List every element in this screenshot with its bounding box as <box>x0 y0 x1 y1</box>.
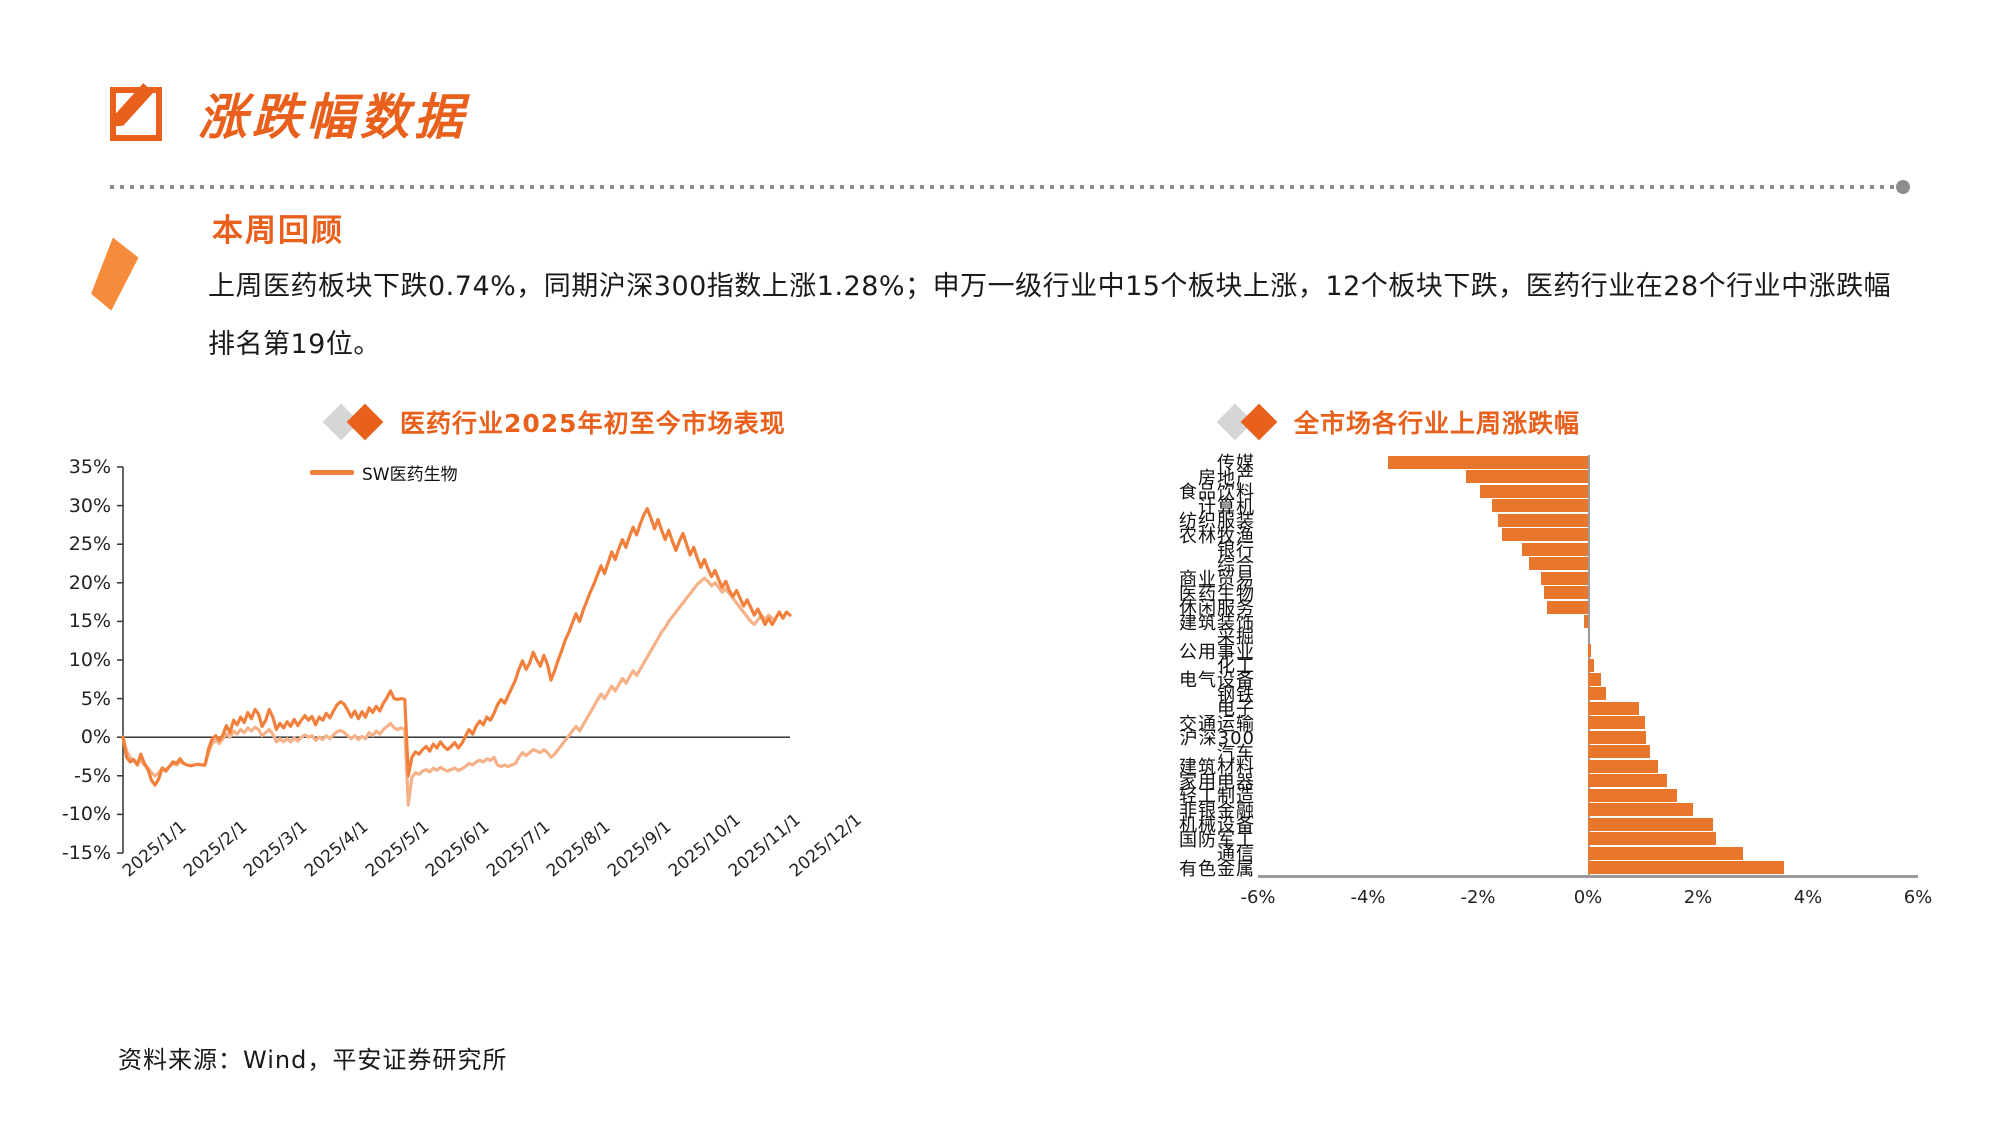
bar-有色金属 <box>1588 861 1784 874</box>
legend-label: SW医药生物 <box>362 460 458 485</box>
bar-chart-axis-line <box>1258 875 1918 878</box>
bar-电子 <box>1588 702 1639 715</box>
bar-轻工制造 <box>1588 789 1677 802</box>
bar-国防军工 <box>1588 832 1716 845</box>
section-heading: 本周回顾 <box>212 205 344 250</box>
bar-休闲服务 <box>1547 601 1588 614</box>
bar-农林牧渔 <box>1502 528 1588 541</box>
bar-通信 <box>1588 847 1743 860</box>
bar-公用事业 <box>1588 644 1591 657</box>
x-tick-label: 2% <box>1684 887 1713 908</box>
bar-商业贸易 <box>1541 572 1588 585</box>
bar-电气设备 <box>1588 673 1601 686</box>
legend-swatch <box>310 470 354 475</box>
line-chart-legend: SW医药生物 <box>310 460 458 485</box>
bar-chart-x-axis: -6%-4%-2%0%2%4%6% <box>1000 887 1660 927</box>
header-divider <box>110 185 1900 189</box>
bar-家用电器 <box>1588 774 1667 787</box>
bar-汽车 <box>1588 745 1650 758</box>
category-label: 有色金属 <box>1179 855 1255 881</box>
bar-房地产 <box>1466 470 1588 483</box>
pencil-bullet-icon <box>90 240 146 314</box>
bar-综合 <box>1529 557 1588 570</box>
left-chart-header: 医药行业2025年初至今市场表现 <box>328 404 786 440</box>
bar-chart: 传媒房地产食品饮料计算机纺织服装农林牧渔银行综合商业贸易医药生物休闲服务建筑装饰… <box>1000 455 1930 995</box>
x-tick-label: 6% <box>1904 887 1933 908</box>
diamond-orange-icon <box>347 404 384 441</box>
source-note: 资料来源：Wind，平安证券研究所 <box>118 1040 507 1075</box>
x-tick-label: 4% <box>1794 887 1823 908</box>
bar-化工 <box>1588 659 1594 672</box>
line-chart-x-axis: 2025/1/12025/2/12025/3/12025/4/12025/5/1… <box>45 860 975 970</box>
left-chart-title: 医药行业2025年初至今市场表现 <box>400 404 786 440</box>
bar-银行 <box>1522 543 1588 556</box>
bar-计算机 <box>1492 499 1588 512</box>
page-title: 涨跌幅数据 <box>198 78 468 149</box>
section-body-text: 上周医药板块下跌0.74%，同期沪深300指数上涨1.28%；申万一级行业中15… <box>208 258 1908 374</box>
bar-机械设备 <box>1588 818 1713 831</box>
divider-end-dot <box>1896 180 1910 194</box>
bar-建筑材料 <box>1588 760 1658 773</box>
right-chart-title: 全市场各行业上周涨跌幅 <box>1294 404 1580 440</box>
bar-建筑装饰 <box>1584 615 1588 628</box>
x-tick-label: -6% <box>1240 887 1275 908</box>
edit-document-icon <box>110 83 172 145</box>
bar-交通运输 <box>1588 716 1645 729</box>
bar-钢铁 <box>1588 687 1606 700</box>
line-chart: 35%30%25%20%15%10%5%0%-5%-10%-15% SW医药生物… <box>45 455 975 975</box>
bar-医药生物 <box>1544 586 1588 599</box>
bar-纺织服装 <box>1498 514 1588 527</box>
x-tick-label: -2% <box>1460 887 1495 908</box>
line-series-沪深300 <box>123 578 772 805</box>
bar-沪深300 <box>1588 731 1646 744</box>
x-tick-label: -4% <box>1350 887 1385 908</box>
line-series-SW医药生物 <box>123 509 790 785</box>
diamond-orange-icon <box>1241 404 1278 441</box>
slide-page: 涨跌幅数据 本周回顾 上周医药板块下跌0.74%，同期沪深300指数上涨1.28… <box>0 0 2000 1125</box>
bar-传媒 <box>1388 456 1588 469</box>
page-header: 涨跌幅数据 <box>110 78 468 149</box>
bar-非银金融 <box>1588 803 1693 816</box>
bar-食品饮料 <box>1480 485 1588 498</box>
right-chart-header: 全市场各行业上周涨跌幅 <box>1222 404 1580 440</box>
line-chart-plot <box>45 455 975 865</box>
x-tick-label: 0% <box>1574 887 1603 908</box>
bar-chart-plot <box>1258 455 1918 875</box>
